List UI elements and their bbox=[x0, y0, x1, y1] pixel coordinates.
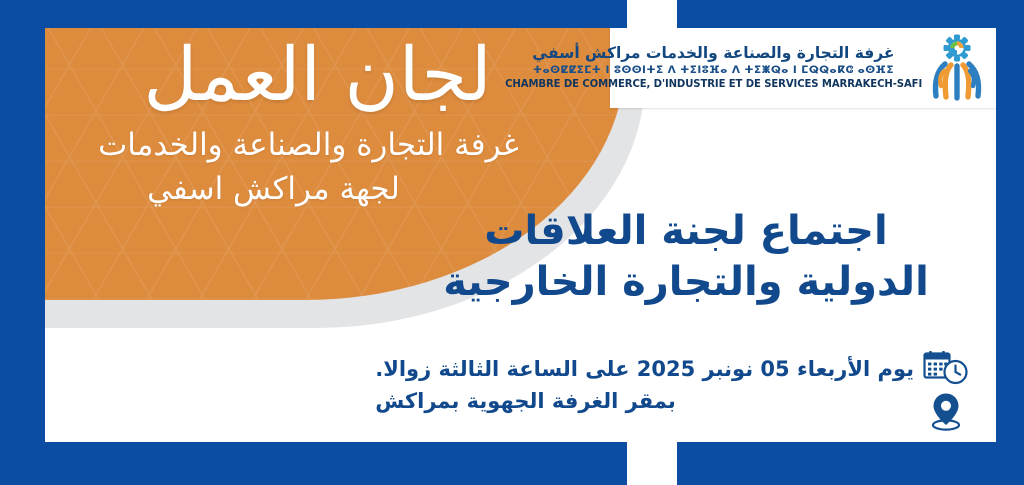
calendar-clock-icon bbox=[923, 350, 969, 386]
hero-subtitle-line2: لجهة مراكش اسفي bbox=[45, 167, 572, 211]
event-heading-line1: اجتماع لجنة العلاقات bbox=[386, 206, 986, 257]
logo-french-name: CHAMBRE DE COMMERCE, D'INDUSTRIE ET DE S… bbox=[505, 78, 922, 92]
chamber-logo-text: غرفة التجارة والصناعة والخدمات مراكش أسف… bbox=[499, 44, 924, 92]
location-pin-icon bbox=[929, 392, 963, 432]
logo-tifinagh-name: ⵜⴰⵙⵇⵇⵉⵎⵜ ⵏ ⵓⵙⵙⵏⵜⵉ ⴷ ⵜⵉⵏⵓⴼⴰ ⴷ ⵜⵉⵥⵕⴰ ⵏ ⵎⵕⵕ… bbox=[503, 63, 924, 78]
event-date-line: يوم الأربعاء 05 نونبر 2025 على الساعة ال… bbox=[375, 354, 914, 386]
chamber-logo-card: غرفة التجارة والصناعة والخدمات مراكش أسف… bbox=[610, 28, 996, 108]
poster-canvas: لجان العمل غرفة التجارة والصناعة والخدما… bbox=[45, 28, 996, 442]
frame-gap-bottom bbox=[627, 440, 677, 485]
hero-subtitle-line1: غرفة التجارة والصناعة والخدمات bbox=[98, 127, 519, 163]
event-heading: اجتماع لجنة العلاقات الدولية والتجارة ال… bbox=[386, 206, 986, 308]
event-venue-line: بمقر الغرفة الجهوية بمراكش bbox=[375, 386, 914, 418]
hero-subtitle: غرفة التجارة والصناعة والخدمات لجهة مراك… bbox=[45, 123, 590, 211]
event-detail-icons bbox=[920, 346, 972, 432]
event-poster: لجان العمل غرفة التجارة والصناعة والخدما… bbox=[0, 0, 1024, 485]
event-detail-text: يوم الأربعاء 05 نونبر 2025 على الساعة ال… bbox=[375, 346, 920, 418]
logo-arabic-name: غرفة التجارة والصناعة والخدمات مراكش أسف… bbox=[503, 44, 924, 63]
chamber-of-commerce-logo-icon bbox=[926, 34, 988, 102]
event-heading-line2: الدولية والتجارة الخارجية bbox=[386, 257, 986, 308]
frame-gap-top bbox=[627, 0, 677, 30]
event-details: يوم الأربعاء 05 نونبر 2025 على الساعة ال… bbox=[392, 346, 972, 432]
